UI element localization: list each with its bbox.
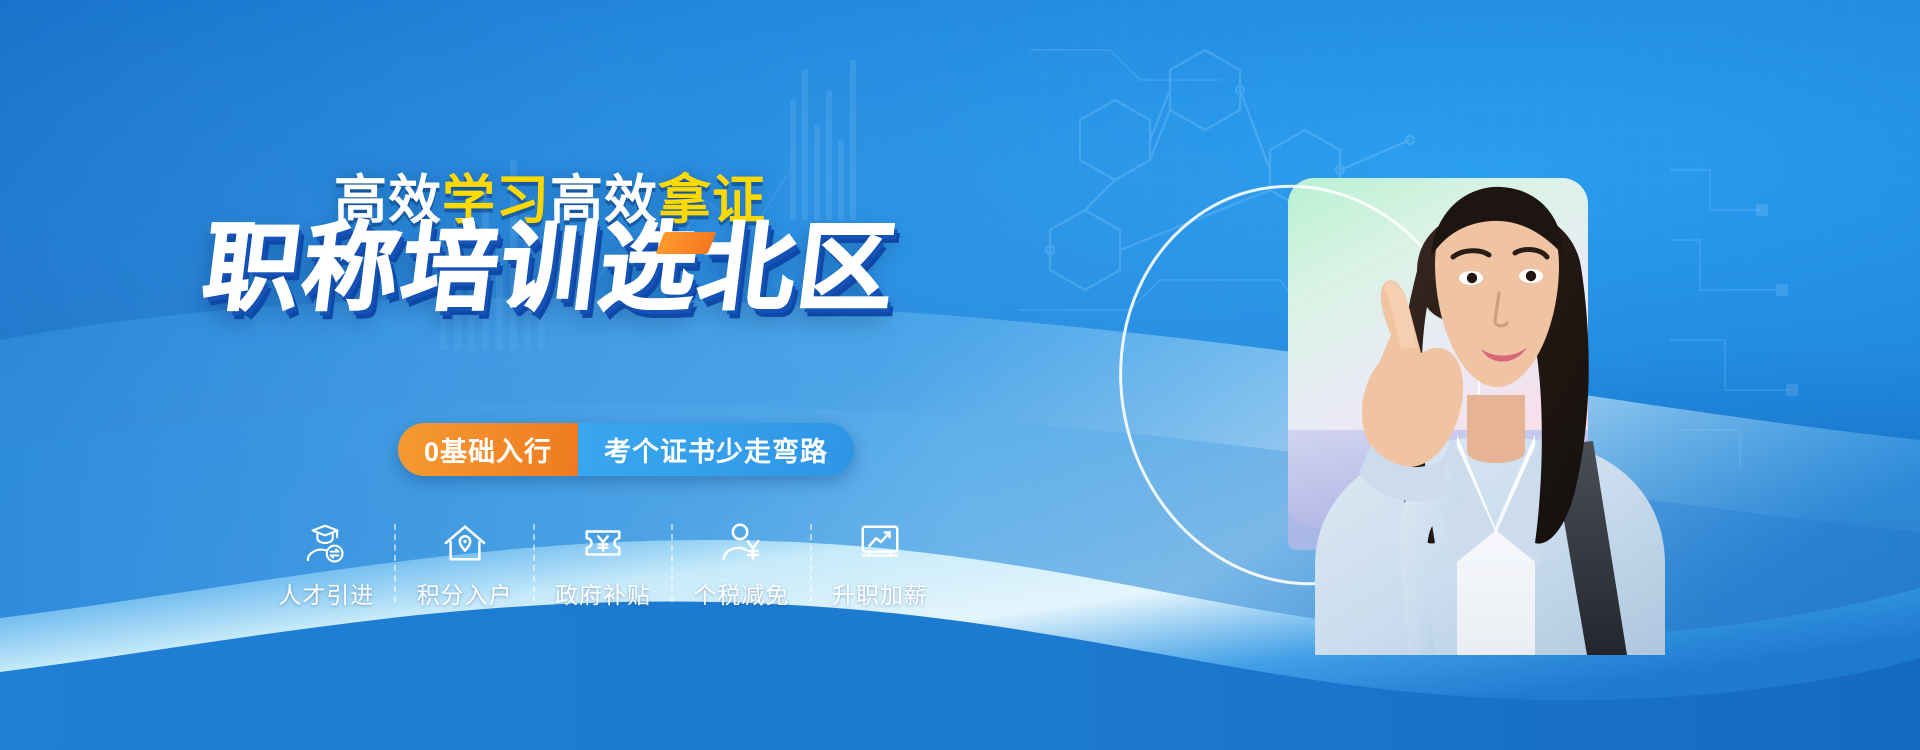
feature-item-talent[interactable]: 人才引进 (258, 520, 394, 610)
feature-item-tax[interactable]: 个税减免 (673, 520, 809, 610)
chart-board-icon (857, 520, 903, 566)
graduate-person-icon (303, 520, 349, 566)
feature-label: 积分入户 (417, 576, 513, 610)
feature-item-residency[interactable]: 积分入户 (396, 520, 532, 610)
headline-text: 职称培训选北区 (197, 218, 902, 320)
promo-banner: 高效学习高效拿证 职称培训选北区 0基础入行 考个证书少走弯路 人才引进 (0, 0, 1920, 750)
person-yuan-icon (718, 520, 764, 566)
copy-block: 高效学习高效拿证 职称培训选北区 0基础入行 考个证书少走弯路 人才引进 (0, 0, 1100, 750)
feature-item-promotion[interactable]: 升职加薪 (812, 520, 948, 610)
feature-label: 个税减免 (693, 576, 789, 610)
tagline-badge: 0基础入行 考个证书少走弯路 (398, 423, 854, 476)
feature-label: 政府补贴 (555, 576, 651, 610)
coupon-yuan-icon (580, 520, 626, 566)
badge-left-label: 0基础入行 (398, 423, 578, 476)
instructor-photo (1195, 95, 1715, 655)
headline: 职称培训选北区 (0, 218, 1100, 320)
feature-item-subsidy[interactable]: 政府补贴 (535, 520, 671, 610)
house-pin-icon (442, 520, 488, 566)
feature-list: 人才引进 积分入户 政府补贴 (258, 520, 948, 630)
feature-label: 升职加薪 (832, 576, 928, 610)
feature-label: 人才引进 (278, 576, 374, 610)
badge-right-label: 考个证书少走弯路 (578, 423, 854, 476)
orange-accent-shape (656, 232, 717, 254)
